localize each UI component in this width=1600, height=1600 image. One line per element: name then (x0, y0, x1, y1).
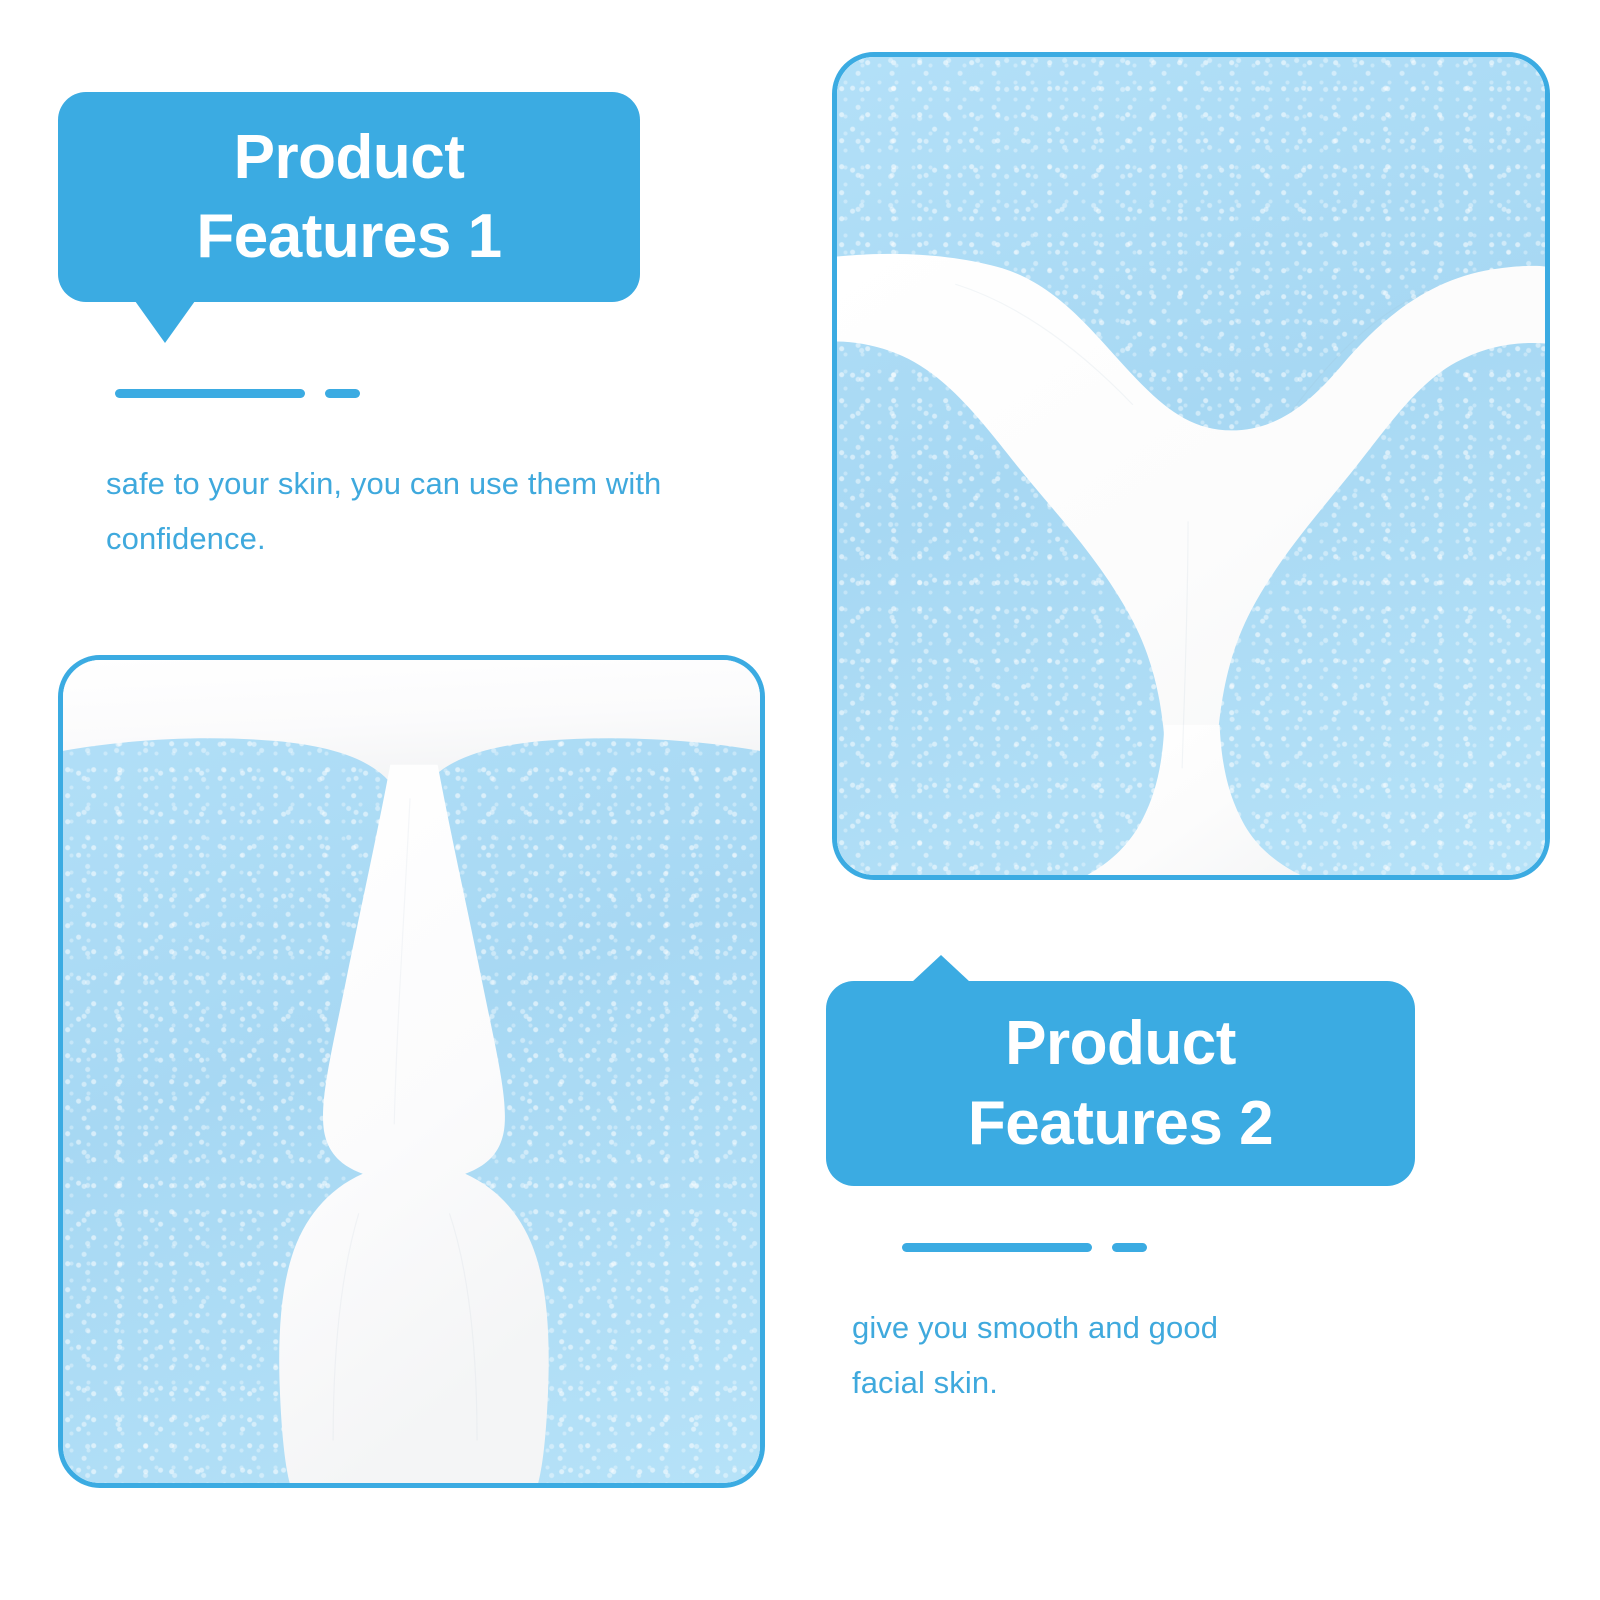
product-features-infographic: Product Features 1 safe to your skin, yo… (0, 0, 1600, 1600)
feature-2-caption: give you smooth and good facial skin. (852, 1300, 1272, 1410)
product-features-1-bubble: Product Features 1 (58, 92, 640, 302)
product-photo-card-t-patch (58, 655, 765, 1488)
t-shaped-patch-graphic (63, 660, 760, 1483)
product-features-2-title: Product Features 2 (942, 1004, 1299, 1163)
product-features-2-bubble: Product Features 2 (826, 981, 1415, 1186)
x-shaped-patch-graphic (837, 57, 1545, 875)
feature-1-caption: safe to your skin, you can use them with… (106, 456, 706, 566)
bubble-2-tail-up-icon (912, 955, 970, 982)
feature-1-rule-long (115, 389, 305, 398)
photo-inner-t-patch (63, 660, 760, 1483)
feature-1-rule-short (325, 389, 360, 398)
feature-2-rule-short (1112, 1243, 1147, 1252)
photo-inner-x-patch (837, 57, 1545, 875)
feature-1-divider (115, 389, 360, 398)
feature-2-rule-long (902, 1243, 1092, 1252)
bubble-1-tail-down-icon (135, 301, 195, 343)
feature-2-divider (902, 1243, 1147, 1252)
product-features-1-title: Product Features 1 (170, 118, 527, 277)
product-photo-card-x-patch (832, 52, 1550, 880)
